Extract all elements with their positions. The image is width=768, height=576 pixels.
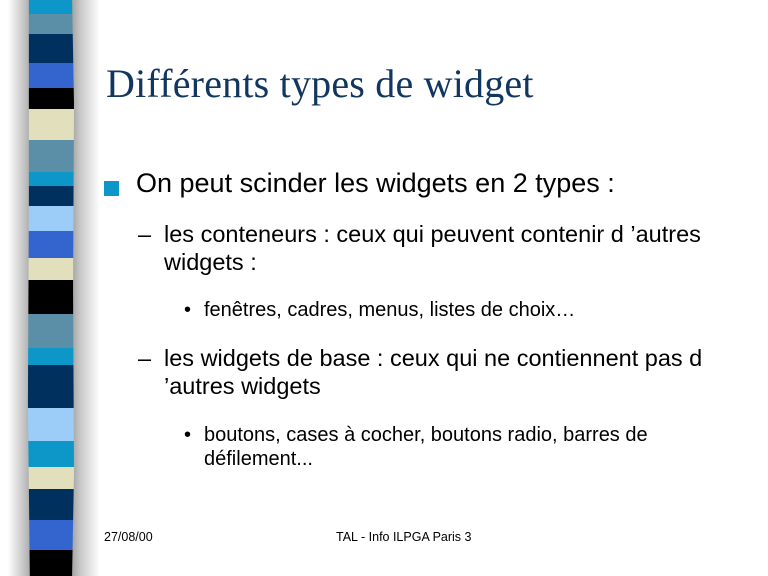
stripe-band: [26, 34, 74, 63]
stripe-band: [26, 314, 74, 348]
stripe-band: [26, 348, 74, 365]
stripe-shadow-right: [70, 0, 100, 576]
stripe-band: [26, 14, 74, 34]
slide-title: Différents types de widget: [106, 62, 736, 107]
bullet-level3-widgets-base-examples-text: boutons, cases à cocher, boutons radio, …: [204, 424, 648, 470]
bullet-level2-widgets-base: – les widgets de base : ceux qui ne cont…: [138, 344, 756, 400]
dot-bullet-icon: •: [184, 423, 191, 447]
stripe-band: [26, 258, 74, 280]
bullet-level2-conteneurs: – les conteneurs : ceux qui peuvent cont…: [138, 220, 756, 276]
bullet-level3-conteneurs-examples: • fenêtres, cadres, menus, listes de cho…: [182, 298, 756, 322]
stripe-band: [26, 408, 74, 441]
stripe-band: [26, 140, 74, 172]
stripe-band: [26, 206, 74, 231]
left-decoration-stripe: [0, 0, 100, 576]
stripe-band: [26, 365, 74, 408]
stripe-band: [26, 186, 74, 206]
stripe-band: [26, 88, 74, 109]
stripe-band: [26, 441, 74, 467]
stripe-band: [26, 109, 74, 140]
bullet-level1-text: On peut scinder les widgets en 2 types :: [136, 168, 615, 198]
dash-bullet-icon: –: [138, 220, 151, 248]
bullet-level2-widgets-base-text: les widgets de base : ceux qui ne contie…: [164, 345, 702, 399]
stripe-color-bands: [26, 0, 74, 576]
stripe-band: [26, 172, 74, 186]
stripe-band: [26, 467, 74, 489]
stripe-band: [26, 520, 74, 550]
bullet-level3-widgets-base-examples: • boutons, cases à cocher, boutons radio…: [182, 423, 756, 471]
slide-canvas: Différents types de widget On peut scind…: [0, 0, 768, 576]
square-bullet-icon: [104, 181, 119, 196]
stripe-band: [26, 489, 74, 520]
slide-body: On peut scinder les widgets en 2 types :…: [100, 168, 756, 471]
stripe-band: [26, 550, 74, 576]
bullet-level2-conteneurs-text: les conteneurs : ceux qui peuvent conten…: [164, 221, 701, 275]
stripe-band: [26, 280, 74, 314]
dot-bullet-icon: •: [184, 298, 191, 322]
dash-bullet-icon: –: [138, 344, 151, 372]
footer-center-text: TAL - Info ILPGA Paris 3: [336, 530, 471, 544]
stripe-band: [26, 231, 74, 258]
stripe-band: [26, 0, 74, 14]
footer-date: 27/08/00: [104, 530, 153, 544]
bullet-level1: On peut scinder les widgets en 2 types :: [100, 168, 756, 200]
bullet-level3-conteneurs-examples-text: fenêtres, cadres, menus, listes de choix…: [204, 299, 575, 321]
stripe-band: [26, 63, 74, 88]
